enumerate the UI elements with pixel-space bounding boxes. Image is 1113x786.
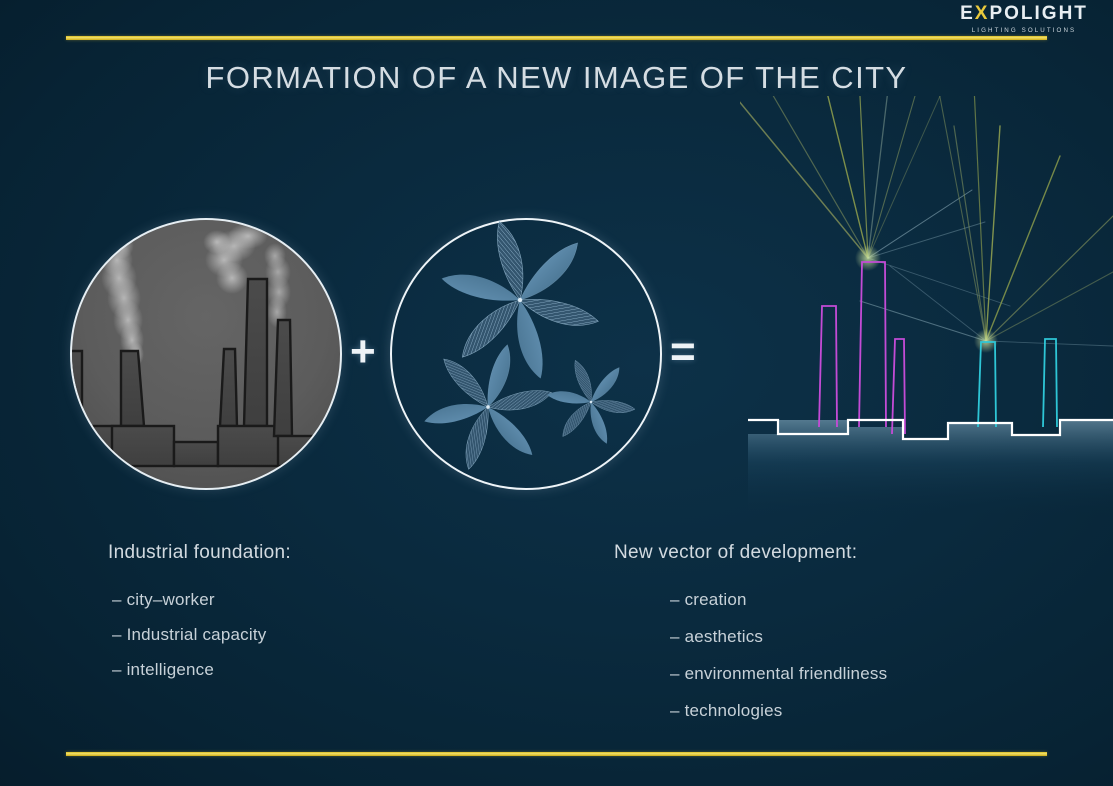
- logo-wordmark: EXPOLIGHT: [957, 4, 1091, 23]
- list-item: – city–worker: [112, 590, 291, 610]
- illuminated-city-skyline: [740, 96, 1113, 516]
- logo-word-part-1: E: [960, 3, 975, 24]
- list-item: – creation: [670, 590, 887, 610]
- list-item: – intelligence: [112, 660, 291, 680]
- column-new-vector: New vector of development: – creation – …: [614, 542, 887, 738]
- plus-operator: +: [350, 330, 376, 374]
- page-title: FORMATION OF A NEW IMAGE OF THE CITY: [0, 60, 1113, 96]
- column-left-heading: Industrial foundation:: [108, 542, 291, 564]
- column-right-list: – creation – aesthetics – environmental …: [614, 590, 887, 721]
- smoke-plume-left: [101, 233, 144, 366]
- logo-word-part-2: POLIGHT: [989, 3, 1087, 24]
- equals-operator: =: [670, 330, 696, 374]
- factory-illustration: [72, 220, 340, 488]
- logo-tagline: LIGHTING SOLUTIONS: [957, 27, 1091, 34]
- industrial-factory-circle: [70, 218, 342, 490]
- bottom-divider-rule: [66, 752, 1047, 756]
- flowers-illustration: [392, 220, 660, 488]
- list-item: – aesthetics: [670, 627, 887, 647]
- flowers-circle: [390, 218, 662, 490]
- list-item: – technologies: [670, 701, 887, 721]
- top-divider-rule: [66, 36, 1047, 40]
- column-left-list: – city–worker – Industrial capacity – in…: [108, 590, 291, 680]
- slide-root: EXPOLIGHT LIGHTING SOLUTIONS FORMATION O…: [0, 0, 1113, 786]
- light-beams-magenta-tower: [740, 96, 1010, 306]
- column-industrial-foundation: Industrial foundation: – city–worker – I…: [108, 542, 291, 695]
- flower-small-bottom-right: [538, 352, 644, 452]
- column-right-heading: New vector of development:: [614, 542, 887, 564]
- magenta-towers: [819, 262, 905, 434]
- city-skyline-illustration: [740, 96, 1113, 516]
- list-item: – environmental friendliness: [670, 664, 887, 684]
- expolight-logo: EXPOLIGHT LIGHTING SOLUTIONS: [957, 4, 1091, 34]
- list-item: – Industrial capacity: [112, 625, 291, 645]
- light-beams-cyan-tower: [860, 96, 1113, 353]
- logo-x-accent: X: [975, 3, 990, 24]
